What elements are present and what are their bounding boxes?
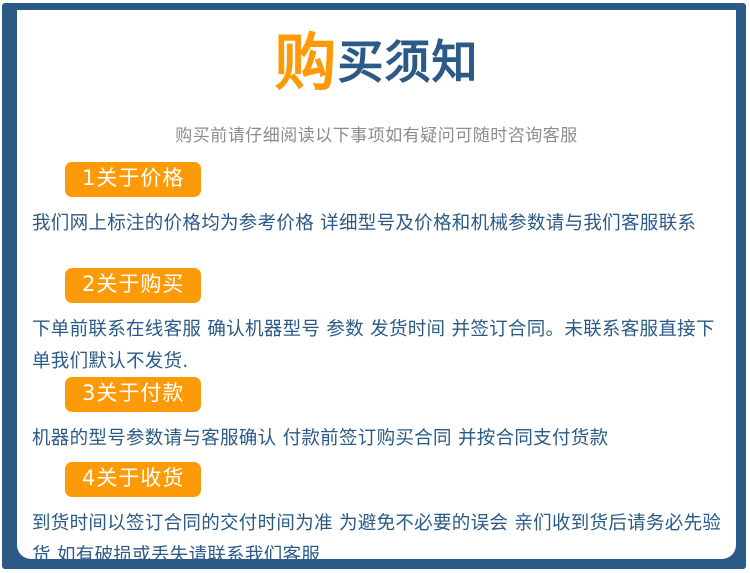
section-badge-4: 4关于收货	[65, 462, 201, 497]
section-delivery: 4关于收货 到货时间以签订合同的交付时间为准 为避免不必要的误会 亲们收到货后请…	[17, 462, 736, 559]
section-text-3: 机器的型号参数请与客服确认 付款前签订购买合同 并按合同支付货款	[32, 423, 722, 455]
section-purchase: 2关于购买 下单前联系在线客服 确认机器型号 参数 发货时间 并签订合同。未联系…	[17, 268, 736, 378]
content-panel: 购买须知 购买前请仔细阅读以下事项如有疑问可随时咨询客服 1关于价格 我们网上标…	[17, 10, 736, 559]
page-title-rest: 买须知	[338, 35, 479, 89]
section-text-4: 到货时间以签订合同的交付时间为准 为避免不必要的误会 亲们收到货后请务必先验货 …	[32, 508, 722, 559]
page-subtitle: 购买前请仔细阅读以下事项如有疑问可随时咨询客服	[17, 121, 736, 146]
page-title-highlight: 购	[274, 26, 337, 99]
section-badge-3: 3关于付款	[65, 377, 201, 412]
section-text-1: 我们网上标注的价格均为参考价格 详细型号及价格和机械参数请与我们客服联系	[32, 208, 722, 240]
outer-blue-frame: 购买须知 购买前请仔细阅读以下事项如有疑问可随时咨询客服 1关于价格 我们网上标…	[2, 3, 746, 569]
section-badge-1: 1关于价格	[65, 162, 201, 197]
section-text-2: 下单前联系在线客服 确认机器型号 参数 发货时间 并签订合同。未联系客服直接下单…	[32, 314, 722, 378]
page-title: 购买须知	[17, 32, 736, 94]
section-payment: 3关于付款 机器的型号参数请与客服确认 付款前签订购买合同 并按合同支付货款	[17, 377, 736, 455]
section-pricing: 1关于价格 我们网上标注的价格均为参考价格 详细型号及价格和机械参数请与我们客服…	[17, 162, 736, 240]
section-badge-2: 2关于购买	[65, 268, 201, 303]
